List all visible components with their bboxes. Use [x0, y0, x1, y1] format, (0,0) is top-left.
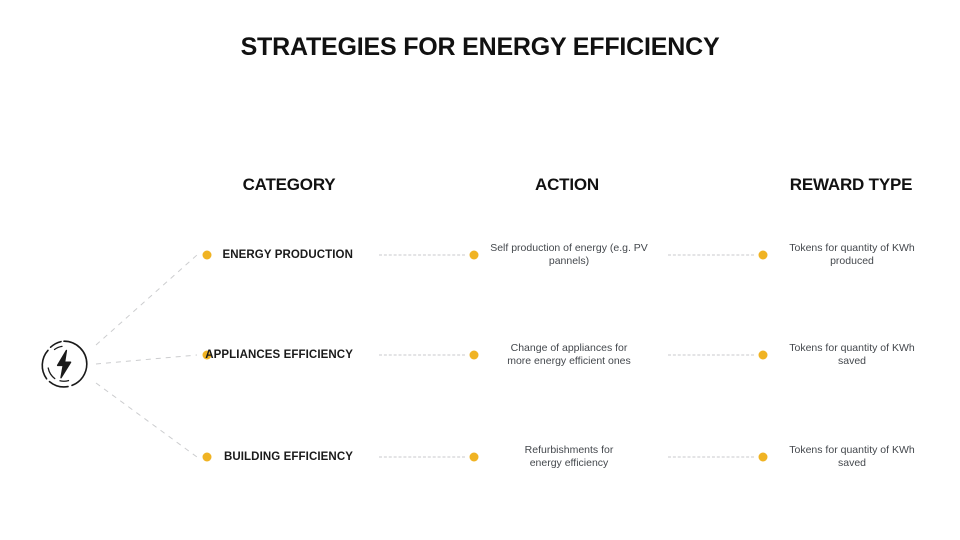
row-bullet-reward — [759, 251, 768, 260]
row-bullet-category — [203, 453, 212, 462]
row-bullet-reward — [759, 351, 768, 360]
reward-text: Tokens for quantity of KWh saved — [787, 342, 917, 368]
action-text: Self production of energy (e.g. PV panne… — [489, 242, 649, 268]
row-bullet-action — [470, 453, 479, 462]
connector-action-to-reward — [668, 255, 754, 256]
connector-category-to-action — [379, 457, 465, 458]
row-bullet-category — [203, 251, 212, 260]
column-header-action: ACTION — [535, 175, 599, 195]
connector-action-to-reward — [668, 355, 754, 356]
column-header-reward: REWARD TYPE — [790, 175, 912, 195]
row-bullet-action — [470, 351, 479, 360]
category-label: ENERGY PRODUCTION — [222, 249, 353, 261]
row-bullet-reward — [759, 453, 768, 462]
category-label: APPLIANCES EFFICIENCY — [205, 349, 353, 361]
connector-category-to-action — [379, 255, 465, 256]
action-text: Change of appliances for more energy eff… — [504, 342, 634, 368]
reward-text: Tokens for quantity of KWh saved — [787, 444, 917, 470]
connector-action-to-reward — [668, 457, 754, 458]
row-bullet-action — [470, 251, 479, 260]
energy-bolt-circle-icon — [39, 339, 89, 389]
reward-text: Tokens for quantity of KWh produced — [778, 242, 926, 268]
column-header-category: CATEGORY — [243, 175, 336, 195]
category-label: BUILDING EFFICIENCY — [224, 451, 353, 463]
action-text: Refurbishments for energy efficiency — [509, 444, 629, 470]
connector-category-to-action — [379, 355, 465, 356]
page-title: STRATEGIES FOR ENERGY EFFICIENCY — [0, 33, 960, 62]
slide-canvas: STRATEGIES FOR ENERGY EFFICIENCY CATEGOR… — [0, 0, 960, 540]
